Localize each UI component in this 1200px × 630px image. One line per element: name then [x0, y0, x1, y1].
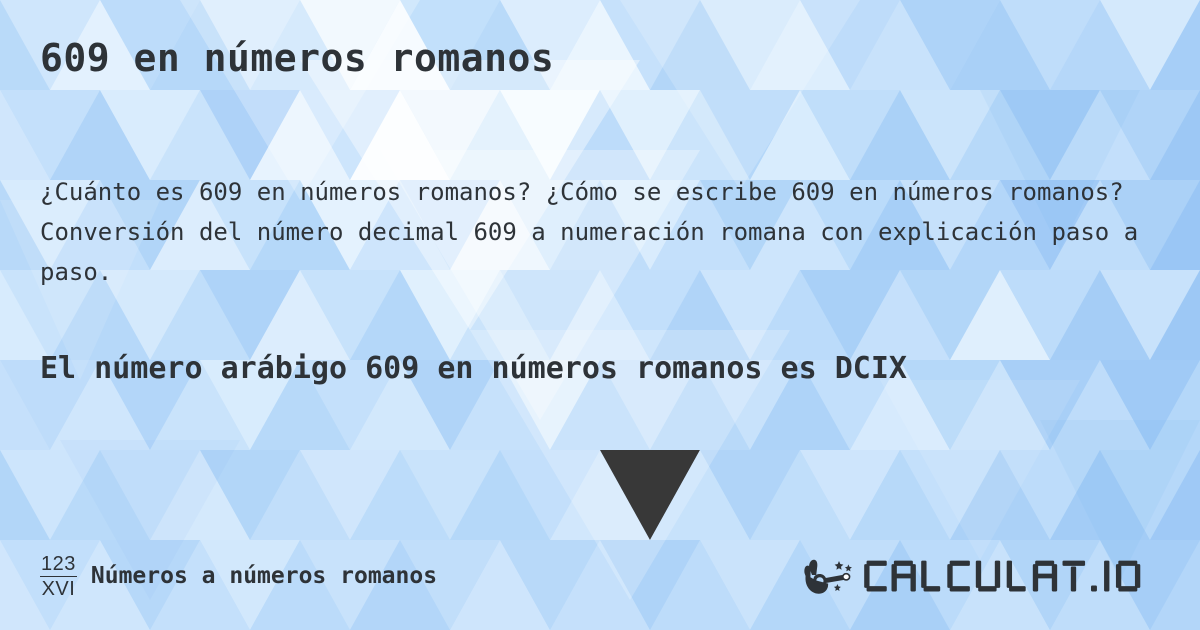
calculatio-brand-logo[interactable] — [803, 556, 1160, 596]
share-card: 609 en números romanos ¿Cuánto es 609 en… — [0, 0, 1200, 630]
numbers-to-roman-logo-icon: 123 XVI — [40, 553, 77, 600]
logo-arabic-part: 123 — [40, 553, 77, 577]
footer-left-group[interactable]: 123 XVI Números a números romanos — [40, 553, 437, 600]
footer: 123 XVI Números a números romanos — [0, 548, 1200, 604]
card-content: 609 en números romanos ¿Cuánto es 609 en… — [0, 0, 1200, 630]
footer-site-label: Números a números romanos — [91, 562, 437, 590]
calculatio-wordmark — [863, 557, 1160, 595]
page-title: 609 en números romanos — [40, 34, 554, 82]
answer-text: El número arábigo 609 en números romanos… — [40, 344, 1120, 394]
description-text: ¿Cuánto es 609 en números romanos? ¿Cómo… — [40, 172, 1150, 292]
hand-wand-icon — [803, 556, 857, 596]
logo-roman-part: XVI — [42, 577, 76, 600]
